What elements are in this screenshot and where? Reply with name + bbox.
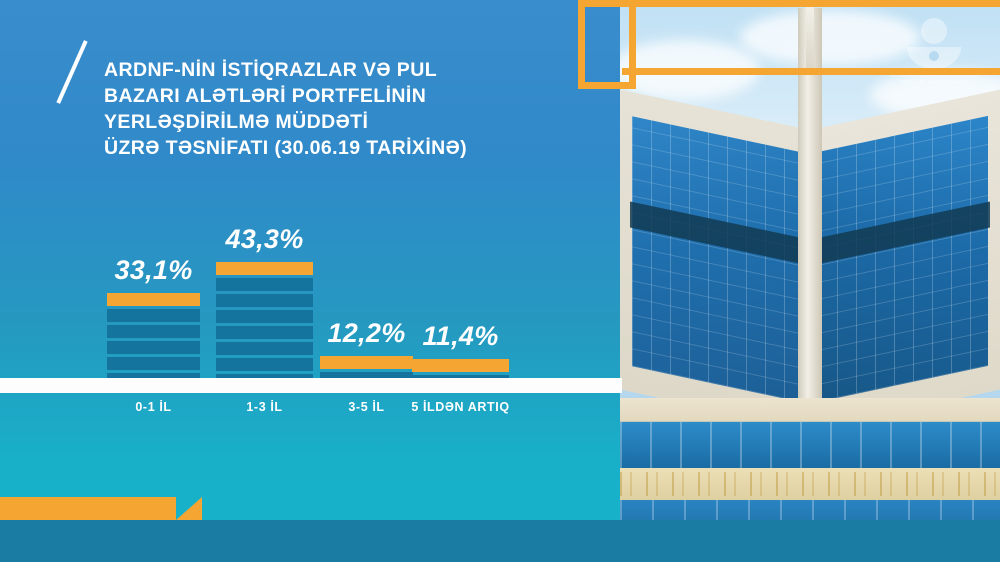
bar-category-label: 0-1 İL bbox=[135, 400, 171, 414]
orange-mid-strip bbox=[622, 68, 1000, 75]
tower-spire bbox=[806, 0, 814, 74]
bar-column: 43,3% bbox=[216, 0, 313, 562]
chart-baseline bbox=[0, 378, 622, 393]
bar-cap bbox=[216, 262, 313, 275]
building-photo: AZƏRBAYCAN RESPUBLİKASI DÖVLƏT NEFT FOND… bbox=[620, 0, 1000, 562]
footer-band bbox=[0, 520, 1000, 562]
podium-ornament bbox=[620, 472, 1000, 496]
orange-bottom-accent bbox=[0, 497, 176, 520]
infographic-slide: AZƏRBAYCAN RESPUBLİKASI DÖVLƏT NEFT FOND… bbox=[0, 0, 1000, 562]
bar-cap bbox=[320, 356, 413, 369]
bar-category-label: 1-3 İL bbox=[246, 400, 282, 414]
logo-circle-icon bbox=[921, 18, 947, 44]
podium-glass-band bbox=[620, 422, 1000, 468]
bar-column: 33,1% bbox=[107, 0, 200, 562]
bar-category-label: 3-5 İL bbox=[348, 400, 384, 414]
bar-cap bbox=[107, 293, 200, 306]
bar-chart: 33,1%43,3%12,2%11,4% 0-1 İL1-3 İL3-5 İL5… bbox=[0, 0, 622, 562]
bar-value-label: 33,1% bbox=[114, 255, 192, 286]
bar bbox=[216, 262, 313, 393]
bar-value-label: 12,2% bbox=[327, 318, 405, 349]
logo-bowl-icon bbox=[907, 47, 961, 69]
tower-glass-left bbox=[632, 116, 800, 402]
logo-text: AZƏRBAYCAN RESPUBLİKASI DÖVLƏT NEFT FOND… bbox=[890, 73, 978, 88]
tower-glass-right bbox=[818, 116, 988, 402]
bar-cap bbox=[412, 359, 509, 372]
orange-top-strip bbox=[585, 0, 1000, 7]
bar-column: 11,4% bbox=[412, 0, 509, 562]
bar-category-label: 5 İLDƏN ARTIQ bbox=[411, 400, 509, 414]
bar-value-label: 43,3% bbox=[225, 224, 303, 255]
bar-value-label: 11,4% bbox=[422, 321, 498, 352]
bar-column: 12,2% bbox=[320, 0, 413, 562]
